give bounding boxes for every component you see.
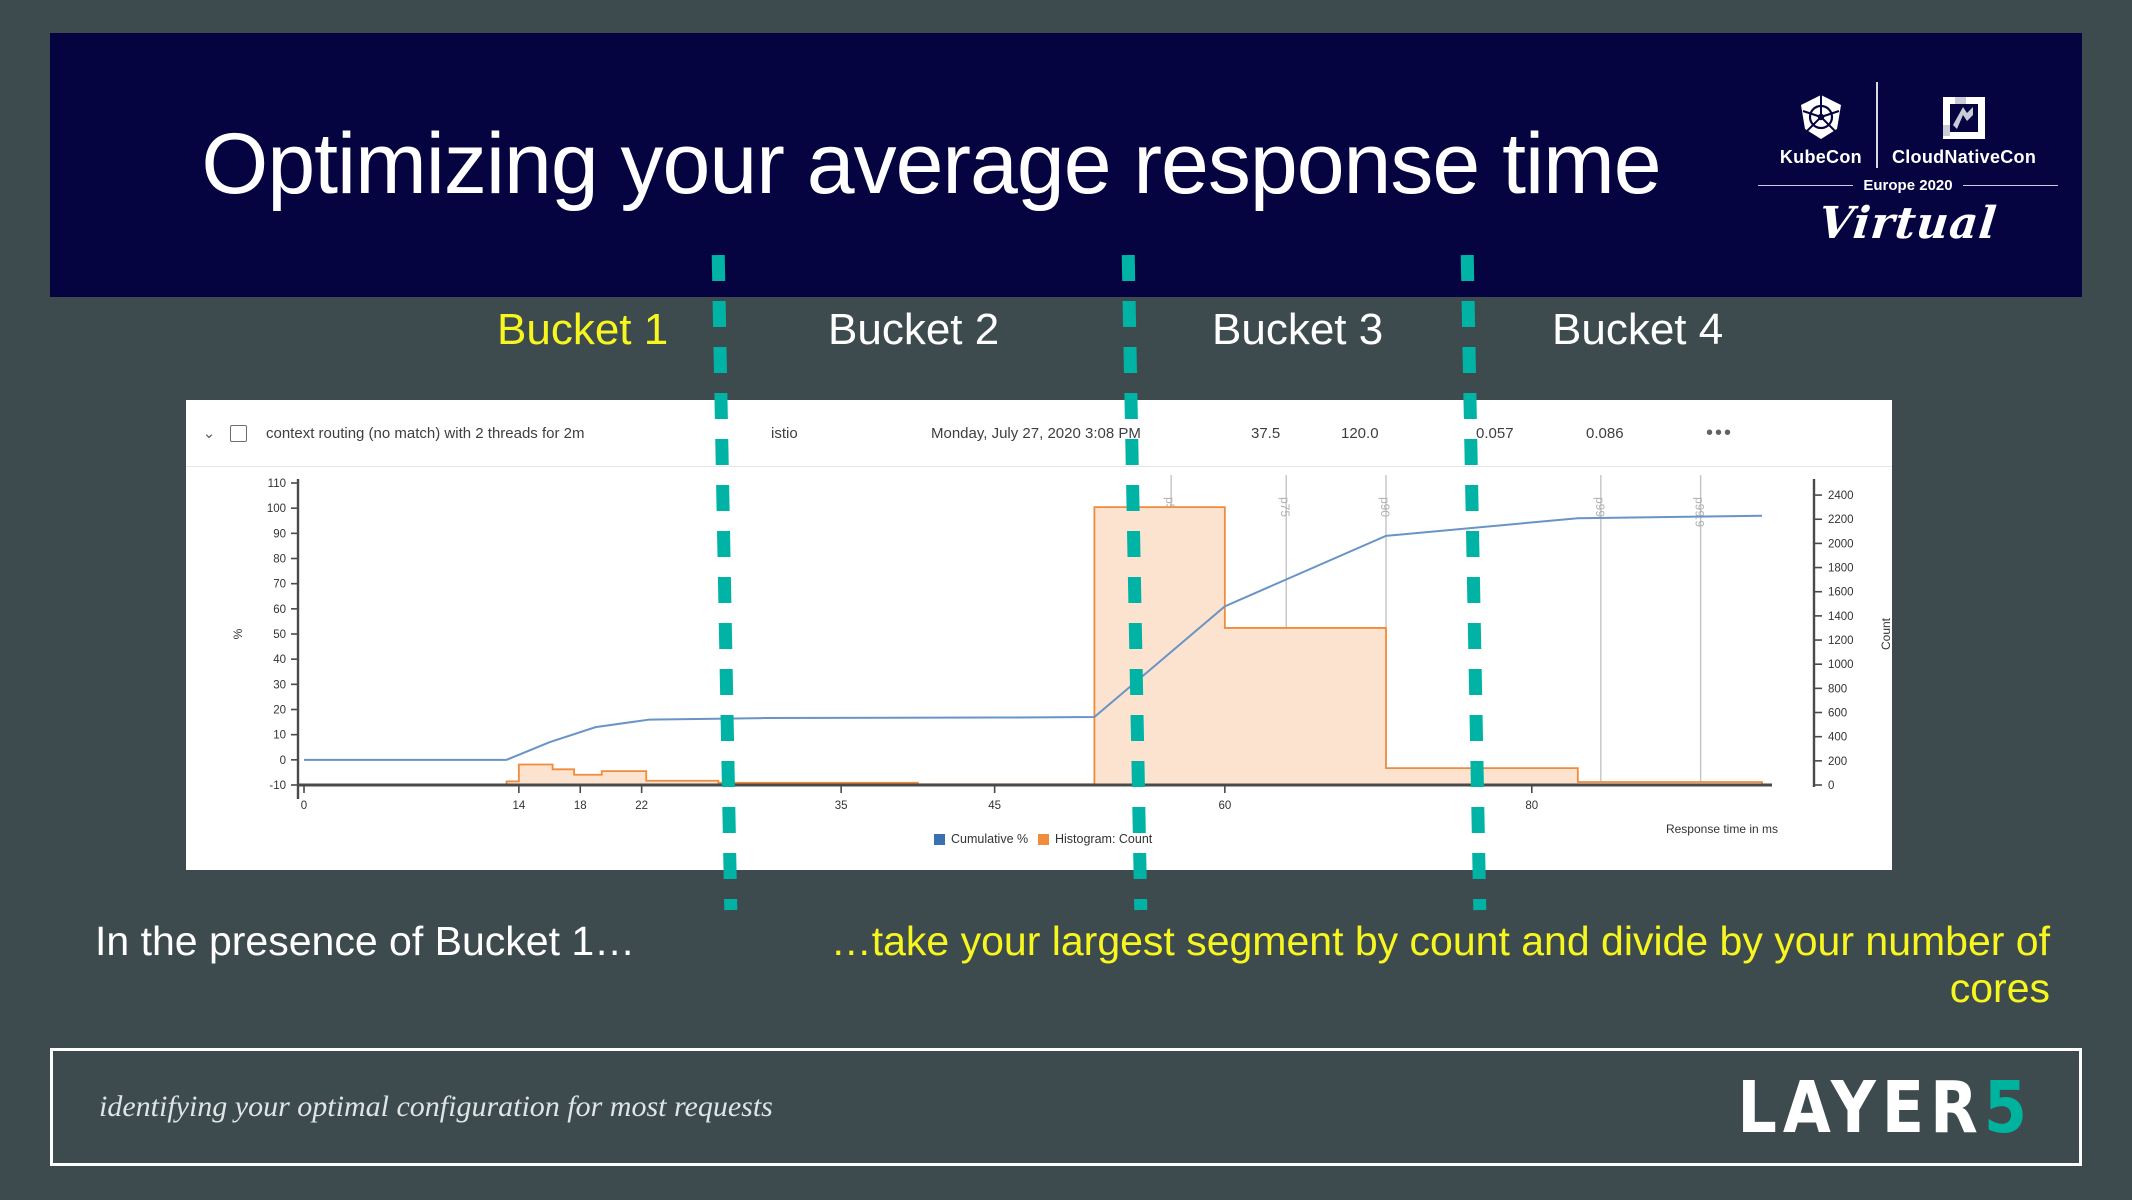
y2-tick-label: 1200 [1828, 635, 1854, 647]
conference-logo: KubeCon CloudNativeCon Europe 2020 [1752, 33, 2082, 297]
cumulative-series [304, 516, 1762, 760]
y2-axis-label: Count [1879, 617, 1892, 650]
y2-tick-label: 200 [1828, 756, 1847, 768]
row-test-name: context routing (no match) with 2 thread… [266, 425, 584, 442]
row-mesh: istio [771, 425, 798, 442]
logo-rule-left [1758, 185, 1853, 186]
y-tick-label: 50 [273, 629, 286, 641]
y2-tick-label: 2400 [1828, 490, 1854, 502]
percentile-label-p75: p75 [1278, 497, 1292, 517]
bucket-label-1: Bucket 1 [497, 305, 668, 355]
conference-format: Virtual [1816, 198, 1999, 249]
y2-tick-label: 2200 [1828, 514, 1854, 526]
y2-tick-label: 400 [1828, 732, 1847, 744]
legend-label[interactable]: Cumulative % [951, 832, 1028, 846]
y-tick-label: 30 [273, 679, 286, 691]
histogram-series [304, 507, 1762, 785]
bucket-label-2: Bucket 2 [828, 305, 999, 355]
kubernetes-helm-icon [1796, 93, 1846, 141]
x-tick-label: 0 [301, 800, 307, 812]
legend-swatch [1038, 834, 1049, 845]
y-tick-label: 40 [273, 654, 286, 666]
row-metric-4: 0.086 [1586, 425, 1624, 442]
cncf-cube-icon [1941, 95, 1987, 141]
bucket-label-4: Bucket 4 [1552, 305, 1723, 355]
layer5-wordmark: LAYER [1737, 1065, 1984, 1149]
y2-tick-label: 0 [1828, 780, 1834, 792]
logo-rule-right [1963, 185, 2058, 186]
caption-right: …take your largest segment by count and … [790, 918, 2050, 1012]
x-tick-label: 22 [635, 800, 648, 812]
overflow-menu-icon[interactable]: ••• [1706, 428, 1733, 438]
percentile-label-p90: p90 [1378, 497, 1392, 517]
x-tick-label: 35 [835, 800, 848, 812]
y-tick-label: 20 [273, 705, 286, 717]
row-checkbox[interactable] [230, 425, 247, 442]
caption-left: In the presence of Bucket 1… [95, 918, 745, 965]
x-tick-label: 45 [988, 800, 1001, 812]
y2-tick-label: 1400 [1828, 611, 1854, 623]
chevron-down-icon[interactable]: ⌄ [199, 424, 219, 442]
y-tick-label: 100 [267, 503, 286, 515]
y2-tick-label: 2000 [1828, 538, 1854, 550]
y-tick-label: 90 [273, 528, 286, 540]
bucket-label-row: Bucket 1 Bucket 2 Bucket 3 Bucket 4 [0, 305, 2132, 385]
footer-bar: identifying your optimal configuration f… [50, 1048, 2082, 1166]
x-tick-label: 80 [1525, 800, 1538, 812]
y2-tick-label: 1000 [1828, 659, 1854, 671]
title-banner: Optimizing your average response time [50, 33, 2082, 297]
y-tick-label: -10 [269, 780, 286, 792]
table-row[interactable]: ⌄ context routing (no match) with 2 thre… [186, 400, 1892, 467]
plot-area: p50p75p90p99p99.911010090807060504030201… [186, 467, 1892, 870]
y2-tick-label: 1800 [1828, 563, 1854, 575]
footer-tagline: identifying your optimal configuration f… [99, 1090, 773, 1124]
y-tick-label: 10 [273, 730, 286, 742]
y2-tick-label: 600 [1828, 708, 1847, 720]
y-tick-label: 60 [273, 604, 286, 616]
x-axis-label: Response time in ms [1666, 822, 1778, 836]
cloudnativecon-label: CloudNativeCon [1892, 147, 2036, 168]
row-metric-3: 0.057 [1476, 425, 1514, 442]
kubecon-label: KubeCon [1780, 147, 1862, 168]
response-time-histogram-chart: p50p75p90p99p99.911010090807060504030201… [186, 467, 1892, 870]
y-tick-label: 80 [273, 554, 286, 566]
y-tick-label: 0 [280, 755, 286, 767]
logo-divider [1876, 82, 1878, 168]
page-title: Optimizing your average response time [50, 121, 1752, 209]
row-metric-2: 120.0 [1341, 425, 1379, 442]
y2-tick-label: 800 [1828, 683, 1847, 695]
row-metric-1: 37.5 [1251, 425, 1280, 442]
layer5-five-glyph: 5 [1984, 1065, 2033, 1149]
y-tick-label: 70 [273, 579, 286, 591]
percentile-label-p99.9: p99.9 [1693, 497, 1707, 527]
percentile-label-p99: p99 [1593, 497, 1607, 517]
x-tick-label: 18 [574, 800, 587, 812]
row-date: Monday, July 27, 2020 3:08 PM [931, 425, 1141, 442]
x-tick-label: 14 [512, 800, 525, 812]
legend-swatch [934, 834, 945, 845]
layer5-logo: LAYER 5 [1737, 1071, 2033, 1144]
conference-edition: Europe 2020 [1863, 177, 1952, 194]
y-tick-label: 110 [268, 478, 286, 490]
chart-panel: ⌄ context routing (no match) with 2 thre… [186, 400, 1892, 870]
bucket-label-3: Bucket 3 [1212, 305, 1383, 355]
y-axis-label: % [231, 628, 245, 639]
y2-tick-label: 1600 [1828, 587, 1854, 599]
x-tick-label: 60 [1218, 800, 1231, 812]
